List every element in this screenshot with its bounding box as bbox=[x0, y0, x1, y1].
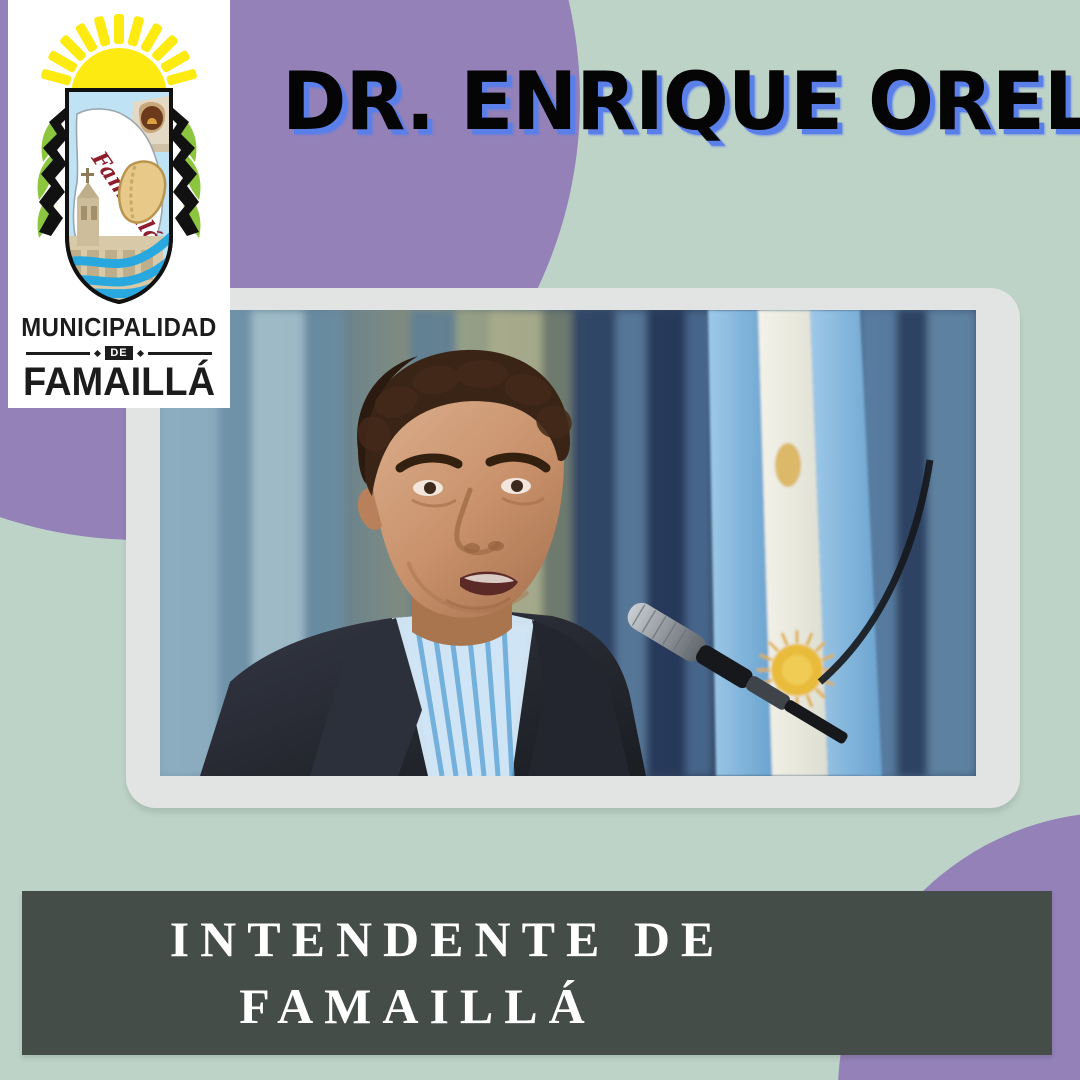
logo-connector-de: DE bbox=[105, 346, 132, 360]
municipality-logo: Famaillá bbox=[8, 0, 230, 408]
sun-rays-icon bbox=[29, 12, 209, 96]
role-banner: INTENDENTE DE FAMAILLÁ bbox=[22, 891, 1052, 1055]
logo-wordmark: MUNICIPALIDAD DE FAMAILLÁ bbox=[8, 312, 230, 402]
role-banner-line-2: FAMAILLÁ bbox=[228, 973, 596, 1041]
divider-dot-left bbox=[94, 349, 101, 356]
divider-bar-right bbox=[148, 352, 212, 355]
shield-icon: Famaillá bbox=[29, 86, 209, 308]
speaker-photo-illustration bbox=[160, 310, 976, 776]
logo-divider: DE bbox=[26, 346, 212, 360]
page-title: DR. ENRIQUE ORELLANA bbox=[282, 64, 1039, 140]
logo-line-famailla: FAMAILLÁ bbox=[14, 362, 225, 402]
divider-bar-left bbox=[26, 352, 90, 355]
divider-dot-right bbox=[137, 349, 144, 356]
poster-canvas: DR. ENRIQUE ORELLANA bbox=[0, 0, 1080, 1080]
role-banner-line-1: INTENDENTE DE bbox=[159, 906, 726, 974]
logo-line-municipalidad: MUNICIPALIDAD bbox=[17, 312, 221, 343]
speaker-photo bbox=[160, 310, 976, 776]
